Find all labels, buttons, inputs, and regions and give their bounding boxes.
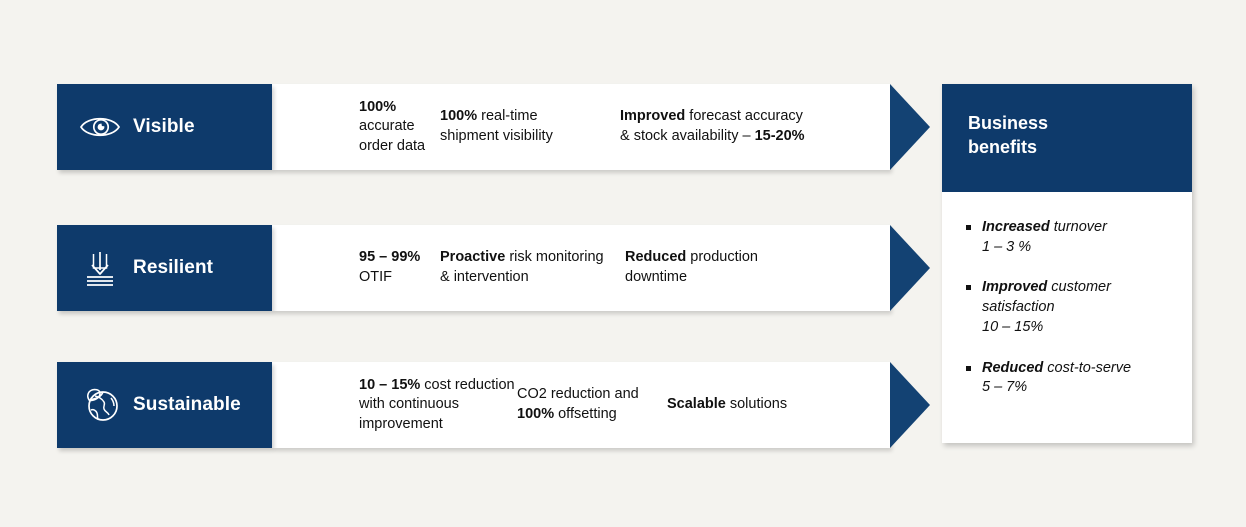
benefit-rest: turnover — [1050, 219, 1107, 235]
metric-cell: Reduced production downtime — [625, 248, 870, 287]
business-benefits-panel: Business benefits Increased turnover 1 –… — [942, 84, 1192, 443]
benefit-value: 5 – 7% — [982, 378, 1178, 398]
metric-cell: 100% real-time shipment visibility — [440, 107, 620, 146]
metric-lead: 100% — [359, 99, 396, 115]
benefit-rest2: satisfaction — [982, 298, 1178, 318]
metric-line2: & intervention — [440, 268, 625, 288]
benefit-lead: Reduced — [982, 360, 1043, 376]
metric-rest: solutions — [726, 396, 787, 412]
metric-line2: offsetting — [554, 406, 617, 422]
benefit-value: 1 – 3 % — [982, 238, 1178, 258]
pillar-row-visible[interactable]: Visible 100% accurate order data 100% re… — [57, 84, 930, 170]
metric-line2: order data — [359, 137, 440, 157]
metric-cell: 10 – 15% cost reduction with continuous … — [272, 376, 517, 435]
metric-cell: Improved forecast accuracy & stock avail… — [620, 107, 870, 146]
page-title: Business benefits — [968, 112, 1192, 160]
metric-lead: Scalable — [667, 396, 726, 412]
list-item: Improved customer satisfaction 10 – 15% — [966, 278, 1178, 337]
metric-rest: cost reduction — [420, 377, 514, 393]
metric-rest: OTIF — [359, 269, 392, 285]
metric-cell: Scalable solutions — [667, 395, 867, 415]
metric-rest: forecast accuracy — [685, 108, 803, 124]
metric-rest: real-time — [477, 108, 537, 124]
pillar-label-block-resilient[interactable]: Resilient — [57, 225, 272, 311]
metric-cell: 95 – 99% OTIF — [272, 248, 440, 287]
benefit-lead: Increased — [982, 219, 1050, 235]
metric-line2-bold: 15-20% — [755, 128, 805, 144]
metric-lead: Proactive — [440, 249, 505, 265]
chevron-right-icon — [890, 362, 930, 448]
metric-line2: shipment visibility — [440, 127, 620, 147]
metric-cell: Proactive risk monitoring & intervention — [440, 248, 625, 287]
metric-rest: CO2 reduction and — [517, 385, 667, 405]
pillar-row-resilient[interactable]: Resilient 95 – 99% OTIF Proactive risk m… — [57, 225, 930, 311]
metric-line2: downtime — [625, 268, 870, 288]
metric-lead: 95 – 99% — [359, 249, 420, 265]
metric-line2: with continuous improvement — [359, 395, 517, 434]
metric-lead: 10 – 15% — [359, 377, 420, 393]
business-benefits-header: Business benefits — [942, 84, 1192, 192]
metric-cell: CO2 reduction and 100% offsetting — [517, 385, 667, 424]
benefit-rest: cost-to-serve — [1043, 360, 1131, 376]
pillar-body-sustainable: 10 – 15% cost reduction with continuous … — [272, 362, 890, 448]
pillar-body-resilient: 95 – 99% OTIF Proactive risk monitoring … — [272, 225, 890, 311]
pillar-body-visible: 100% accurate order data 100% real-time … — [272, 84, 890, 170]
chevron-right-icon — [890, 225, 930, 311]
globe-leaf-icon — [77, 382, 123, 428]
pillar-label-block-sustainable[interactable]: Sustainable — [57, 362, 272, 448]
metric-line2-bold: 100% — [517, 406, 554, 422]
metric-line2: & stock availability – — [620, 128, 755, 144]
metric-lead: Reduced — [625, 249, 686, 265]
metric-rest: risk monitoring — [505, 249, 603, 265]
eye-icon — [77, 104, 123, 150]
benefit-rest: customer — [1047, 279, 1111, 295]
pillar-row-sustainable[interactable]: Sustainable 10 – 15% cost reduction with… — [57, 362, 930, 448]
metric-lead: 100% — [440, 108, 477, 124]
metric-rest: accurate — [359, 118, 415, 134]
metric-cell: 100% accurate order data — [272, 98, 440, 157]
pillar-title: Resilient — [133, 257, 213, 279]
business-benefits-list: Increased turnover 1 – 3 % Improved cust… — [942, 192, 1192, 443]
slide-canvas: Visible 100% accurate order data 100% re… — [0, 0, 1246, 527]
benefit-lead: Improved — [982, 279, 1047, 295]
list-item: Increased turnover 1 – 3 % — [966, 218, 1178, 257]
pillar-title: Visible — [133, 116, 195, 138]
metric-lead: Improved — [620, 108, 685, 124]
metric-rest: production — [686, 249, 758, 265]
down-arrow-lines-icon — [77, 245, 123, 291]
pillar-title: Sustainable — [133, 394, 241, 416]
pillar-label-block-visible[interactable]: Visible — [57, 84, 272, 170]
chevron-right-icon — [890, 84, 930, 170]
benefit-value: 10 – 15% — [982, 318, 1178, 338]
list-item: Reduced cost-to-serve 5 – 7% — [966, 359, 1178, 398]
